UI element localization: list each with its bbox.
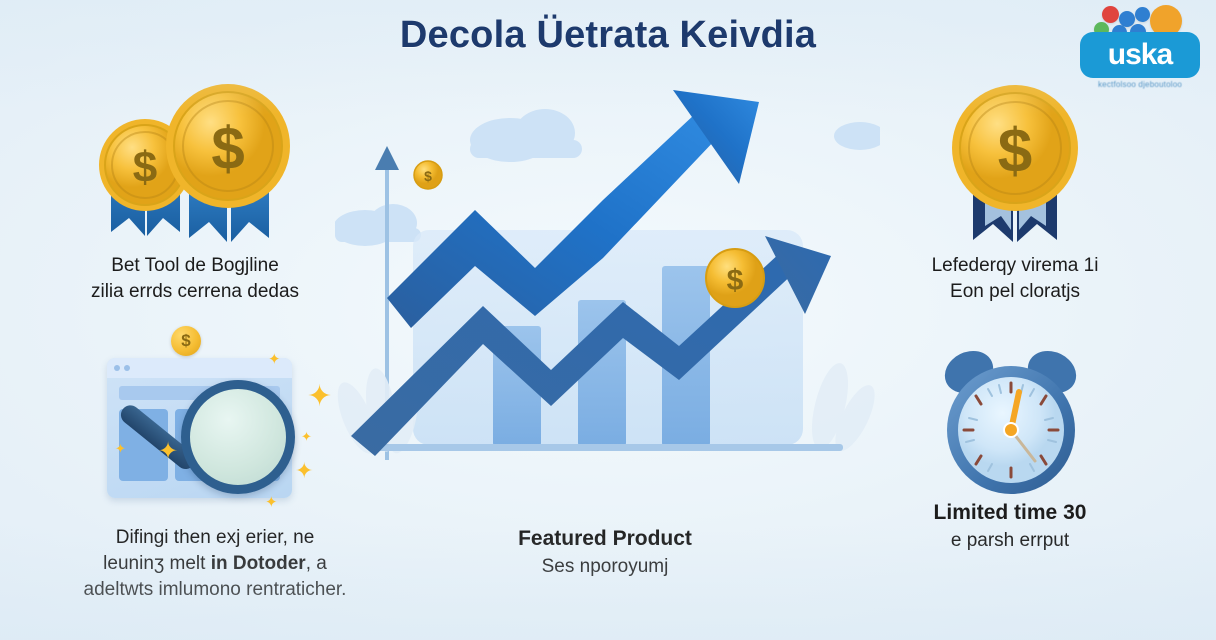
double-medal-dollar-icon: $ $	[30, 76, 360, 249]
growth-chart-illustration: $ $	[335, 88, 880, 488]
featured-product-subtext: Ses nporoyumj	[430, 554, 780, 580]
alarm-clock-icon	[923, 330, 1098, 495]
sparkle-left-icon: ✦	[115, 442, 126, 455]
caption-line-2-pre: leuninʒ melt	[103, 553, 211, 574]
browser-dot-1-icon	[114, 365, 120, 371]
featured-product-heading: Featured Product	[430, 525, 780, 554]
feature-bottom-center: Featured Product Ses nporoyumj	[430, 525, 780, 580]
feature-top-right-caption: Lefederqy virema 1i Eon pel cloratjs	[845, 253, 1185, 305]
caption-line-1: Lefederqy virema 1i	[845, 253, 1185, 279]
feature-top-left-caption: Bet Tool de Bogjline zilia errds cerrena…	[30, 253, 360, 305]
growth-chart-svg: $ $	[335, 88, 880, 488]
caption-line-2: leuninʒ melt in Dotoder, a	[20, 551, 410, 577]
caption-line-1: Difingi then exj erier, ne	[20, 525, 410, 551]
browser-dot-2-icon	[124, 365, 130, 371]
feature-bottom-center-caption: Featured Product Ses nporoyumj	[430, 525, 780, 580]
logo-plate: uska	[1080, 32, 1200, 78]
sparkle-large-icon: ✦	[307, 382, 332, 412]
sparkle-inner-icon: ✦	[158, 440, 178, 464]
feature-top-right: $ Lefederqy virema 1i Eon pel cloratjs	[845, 76, 1185, 305]
page-title: Decola Üetrata Keivdia	[0, 14, 1216, 57]
feature-bottom-left-caption: Difingi then exj erier, ne leuninʒ melt …	[20, 525, 410, 604]
caption-line-2-post: , a	[306, 553, 327, 574]
browser-titlebar	[107, 358, 292, 378]
limited-time-subtext: e parsh errput	[845, 528, 1175, 554]
logo-bubble-red-icon	[1102, 6, 1119, 23]
medal-large: $	[166, 84, 290, 208]
single-medal-svg: $	[915, 76, 1115, 244]
medal-disc: $	[952, 85, 1078, 211]
caption-line-1: Bet Tool de Bogjline	[30, 253, 360, 279]
logo-tagline: kectfolsoo djeboutoloo	[1080, 80, 1200, 89]
chart-baseline	[371, 444, 843, 451]
sparkle-bottom-icon: ✦	[265, 495, 278, 510]
uska-logo[interactable]: uska kectfolsoo djeboutoloo	[1080, 4, 1200, 100]
caption-line-2-bold: in Dotoder	[211, 553, 306, 574]
logo-wordmark: uska	[1108, 40, 1172, 70]
logo-bubble-blue-2-icon	[1135, 7, 1150, 22]
limited-time-heading: Limited time 30	[845, 499, 1175, 528]
svg-text:$: $	[727, 264, 744, 297]
caption-line-2: zilia errds cerrena dedas	[30, 279, 360, 305]
magnifier-lens-icon	[181, 380, 295, 494]
sparkle-small-icon: ✦	[268, 352, 281, 367]
svg-text:$: $	[133, 143, 157, 192]
svg-text:$: $	[424, 168, 432, 184]
svg-text:$: $	[211, 115, 244, 182]
caption-line-3: adeltwts imlumono rentraticher.	[20, 577, 410, 603]
poster-canvas: Decola Üetrata Keivdia uska kectfolsoo d…	[0, 0, 1216, 640]
svg-text:$: $	[998, 117, 1032, 186]
sparkle-mid-icon: ✦	[295, 460, 313, 482]
sparkle-tiny-icon: ✦	[301, 430, 312, 443]
feature-top-left: $ $ Bet Tool de Bogjline zilia errds cer…	[30, 76, 360, 305]
feature-bottom-right-caption: Limited time 30 e parsh errput	[845, 499, 1175, 554]
double-medal-svg: $ $	[85, 76, 305, 244]
caption-line-2: Eon pel cloratjs	[845, 279, 1185, 305]
clock-center-pin	[1004, 423, 1018, 437]
alarm-clock-svg	[923, 330, 1098, 498]
medal-dollar-icon: $	[845, 76, 1185, 249]
coin-icon: $	[171, 326, 201, 356]
feature-bottom-right: Limited time 30 e parsh errput	[845, 330, 1175, 554]
browser-magnifier-icon: $ ✦ ✦ ✦ ✦ ✦ ✦ ✦	[85, 330, 345, 515]
